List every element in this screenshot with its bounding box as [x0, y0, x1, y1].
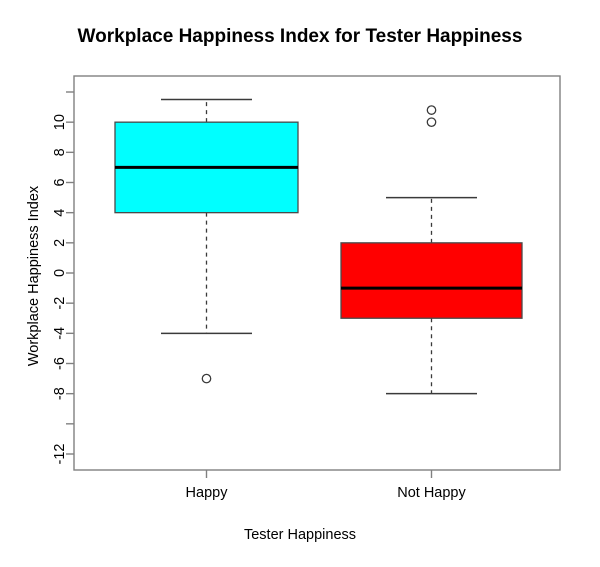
x-axis-category-label: Not Happy [397, 485, 466, 501]
y-axis-tick-label: 2 [52, 239, 68, 247]
y-axis-tick-label: 8 [52, 148, 68, 156]
box-group-not-happy [341, 106, 522, 394]
outlier-point [427, 106, 435, 114]
boxplot-figure: Workplace Happiness Index for Tester Hap… [0, 0, 600, 567]
y-axis-tick-label: 0 [52, 269, 68, 277]
box-rect [341, 243, 522, 318]
y-axis-tick-label: 6 [52, 178, 68, 186]
y-axis-tick-label: -8 [52, 387, 68, 400]
plot-area: 1086420-2-4-6-8-12HappyNot Happy [0, 0, 600, 567]
y-axis-tick-label: 4 [52, 209, 68, 217]
outlier-point [427, 118, 435, 126]
outlier-point [202, 374, 210, 382]
y-axis-tick-label: -12 [52, 444, 68, 465]
y-axis-tick-label: -6 [52, 357, 68, 370]
y-axis-tick-label: 10 [52, 114, 68, 130]
y-axis-tick-label: -4 [52, 327, 68, 340]
y-axis-tick-label: -2 [52, 297, 68, 310]
x-axis-category-label: Happy [186, 485, 229, 501]
box-group-happy [115, 100, 298, 383]
